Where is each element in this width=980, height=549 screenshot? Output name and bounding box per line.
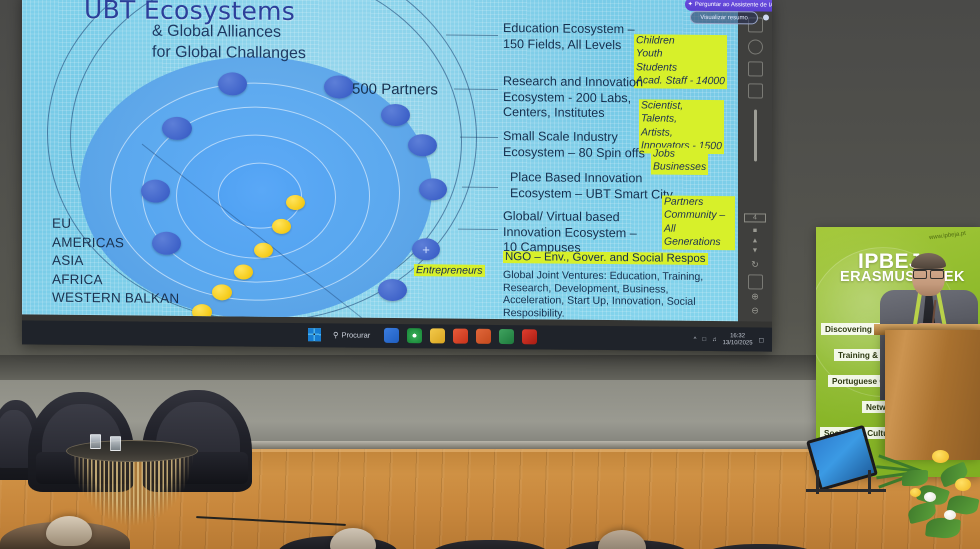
zoom-in-icon[interactable]: ⊕ xyxy=(744,291,766,302)
podium xyxy=(885,330,980,460)
ecosystem-highlight: Jobs Businesses xyxy=(651,133,708,174)
campus-node xyxy=(192,304,212,320)
slide-canvas: + UBT Ecosystems & Global Allia xyxy=(22,0,738,321)
wicker-side-table xyxy=(66,440,198,528)
page-icon[interactable] xyxy=(748,83,763,98)
summary-label: Visualizar resumo xyxy=(700,14,748,20)
water-glass xyxy=(110,436,121,451)
pdf-sidebar[interactable]: 4 ■ ▲ ▼ ↻ ⊕ ⊖ xyxy=(738,0,772,322)
region-list: EU AMERICAS ASIA AFRICA WESTERN BALKAN xyxy=(52,215,179,309)
slide-subtitle-line1: & Global Alliances xyxy=(152,23,281,42)
zoom-out-icon[interactable]: ⊖ xyxy=(744,305,766,316)
page-up-icon[interactable]: ■ xyxy=(744,227,766,234)
partner-node xyxy=(378,279,407,301)
notifications-icon[interactable]: ☐ xyxy=(759,337,764,344)
network-icon[interactable]: □ xyxy=(702,337,706,343)
pdf-viewer-window: + UBT Ecosystems & Global Allia xyxy=(22,0,772,352)
partners-label: 500 Partners xyxy=(352,81,438,99)
note-icon[interactable] xyxy=(748,61,763,76)
partner-node xyxy=(218,72,247,95)
floral-arrangement xyxy=(900,448,980,549)
powerpoint-icon[interactable] xyxy=(476,329,491,344)
page-number[interactable]: 4 xyxy=(744,213,766,222)
taskbar-apps[interactable] xyxy=(384,328,537,344)
ecosystem-annotations: Education Ecosystem – 150 Fields, All Le… xyxy=(503,21,735,264)
monitor-leg xyxy=(816,470,819,494)
volume-icon[interactable]: ♫ xyxy=(712,337,717,343)
ecosystem-item: Education Ecosystem – 150 Fields, All Le… xyxy=(503,21,735,53)
toolbar-more-icon[interactable] xyxy=(763,15,769,21)
partner-node xyxy=(162,117,192,140)
start-button-icon[interactable] xyxy=(308,328,321,341)
taskbar-clock[interactable]: 16:32 13/10/2025 xyxy=(723,333,753,347)
summary-button[interactable]: Visualizar resumo xyxy=(690,11,758,25)
edge-icon[interactable] xyxy=(384,328,399,343)
stamp-icon[interactable] xyxy=(748,39,763,54)
slide-subtitle-line2: for Global Challanges xyxy=(152,44,306,63)
rotate-icon[interactable]: ↻ xyxy=(744,259,766,270)
ecosystem-item: Place Based Innovation Ecosystem – UBT S… xyxy=(503,170,735,204)
campus-node xyxy=(212,284,232,300)
water-glass xyxy=(90,434,101,449)
banner-title-line2: ERASMUS WEEK xyxy=(840,269,965,285)
campus-node xyxy=(254,243,273,258)
vertical-scrollbar[interactable] xyxy=(754,109,757,161)
speaker-glasses xyxy=(913,269,944,276)
page-prev-icon[interactable]: ▲ xyxy=(744,237,766,244)
partner-node xyxy=(408,134,437,156)
search-placeholder: Procurar xyxy=(342,330,371,339)
screenshot-root: + UBT Ecosystems & Global Allia xyxy=(0,0,980,549)
leader-line xyxy=(458,229,498,230)
ecosystem-item: Research and Innovation Ecosystem - 200 … xyxy=(503,74,735,124)
partner-node xyxy=(324,75,354,98)
projected-image: + UBT Ecosystems & Global Allia xyxy=(22,0,772,352)
search-input[interactable]: ⚲ Procurar xyxy=(333,330,370,339)
ecosystem-item: Small Scale Industry Ecosystem – 80 Spin… xyxy=(503,129,735,163)
excel-icon[interactable] xyxy=(499,329,514,344)
partner-node xyxy=(141,180,170,203)
entrepreneurs-label: Entrepreneurs xyxy=(414,264,485,277)
campus-node xyxy=(234,264,253,279)
partner-node xyxy=(381,104,410,126)
office-icon[interactable] xyxy=(453,329,468,344)
monitor-leg xyxy=(868,470,871,494)
tray-expand-icon[interactable]: ^ xyxy=(694,337,697,343)
projection-screen: + UBT Ecosystems & Global Allia xyxy=(22,0,772,352)
explorer-icon[interactable] xyxy=(430,328,445,343)
chrome-icon[interactable] xyxy=(407,328,422,343)
partner-node-plus: + xyxy=(412,238,440,260)
campus-node xyxy=(272,219,291,234)
clock-date: 13/10/2025 xyxy=(723,340,753,347)
audience-head xyxy=(46,516,92,546)
ai-assistant-label: Perguntar ao Assistente de IA xyxy=(695,1,772,8)
table-top xyxy=(66,440,198,462)
leader-line xyxy=(446,34,498,35)
search-icon: ⚲ xyxy=(333,330,339,339)
joint-ventures-text: Global Joint Ventures: Education, Traini… xyxy=(503,269,728,321)
partner-node xyxy=(419,178,447,200)
acrobat-icon[interactable] xyxy=(522,329,537,344)
ecosystem-item: Global/ Virtual based Innovation Ecosyst… xyxy=(503,209,735,257)
system-tray[interactable]: ^ □ ♫ 16:32 13/10/2025 ☐ xyxy=(694,333,764,348)
ngo-line: NGO – Env., Gover. and Social Respos xyxy=(503,251,708,265)
ai-sparkle-icon: ✦ xyxy=(688,1,693,8)
campus-node xyxy=(286,195,305,210)
banner-url: www.ipbeja.pt xyxy=(929,231,966,241)
fit-page-icon[interactable] xyxy=(748,274,763,289)
page-next-icon[interactable]: ▼ xyxy=(744,247,766,254)
